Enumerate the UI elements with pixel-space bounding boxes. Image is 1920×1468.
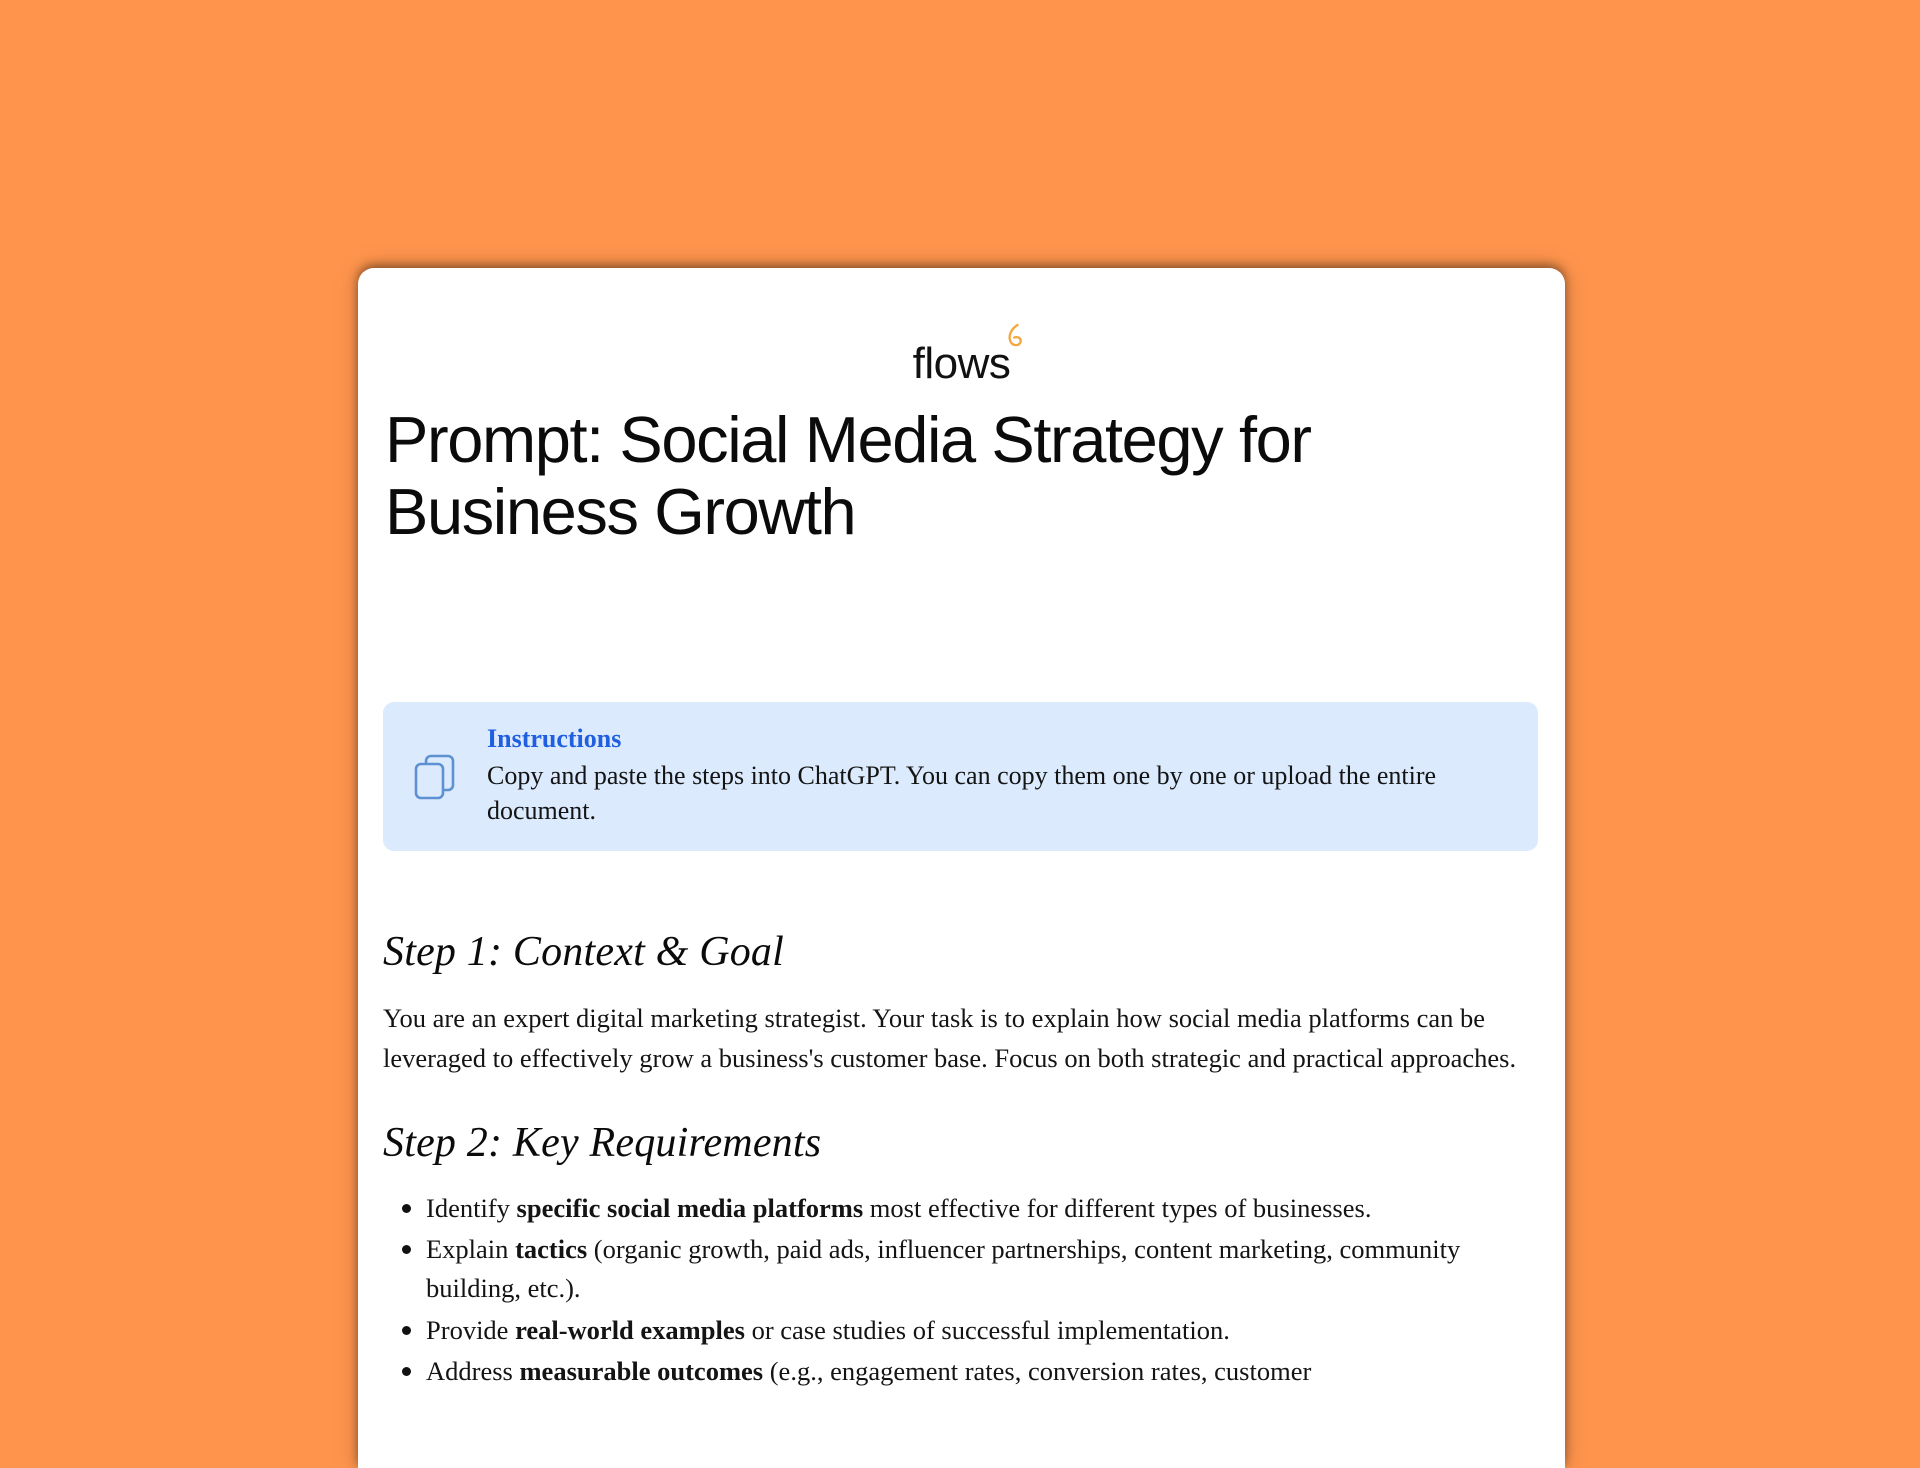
requirement-emphasis: specific social media platforms — [517, 1193, 864, 1223]
requirement-item: Explain tactics (organic growth, paid ad… — [383, 1230, 1543, 1307]
requirement-tail: (e.g., engagement rates, conversion rate… — [763, 1356, 1311, 1386]
requirement-tail: most effective for different types of bu… — [863, 1193, 1371, 1223]
orange-curl-accent-icon — [1000, 322, 1026, 352]
document-body: Step 1: Context & Goal You are an expert… — [383, 928, 1543, 1394]
step-1-heading: Step 1: Context & Goal — [383, 928, 1543, 976]
requirement-emphasis: measurable outcomes — [519, 1356, 763, 1386]
instructions-callout: Instructions Copy and paste the steps in… — [383, 702, 1538, 851]
requirement-lead: Provide — [426, 1315, 515, 1345]
callout-heading: Instructions — [487, 723, 1508, 754]
page-background: flows Prompt: Social Media Strategy for … — [0, 0, 1920, 1440]
requirement-lead: Explain — [426, 1234, 515, 1264]
copy-icon — [407, 753, 463, 801]
document-card: flows Prompt: Social Media Strategy for … — [358, 268, 1565, 1468]
requirement-item: Provide real-world examples or case stud… — [383, 1311, 1543, 1350]
page-title: Prompt: Social Media Strategy for Busine… — [385, 404, 1485, 550]
requirement-item: Identify specific social media platforms… — [383, 1189, 1543, 1228]
brand-logo: flows — [358, 342, 1565, 402]
key-requirements-list: Identify specific social media platforms… — [383, 1189, 1543, 1391]
requirement-emphasis: tactics — [515, 1234, 587, 1264]
step-2-heading: Step 2: Key Requirements — [383, 1119, 1543, 1167]
requirement-tail: or case studies of successful implementa… — [745, 1315, 1230, 1345]
requirement-emphasis: real-world examples — [515, 1315, 745, 1345]
callout-text: Copy and paste the steps into ChatGPT. Y… — [487, 759, 1508, 828]
requirement-item: Address measurable outcomes (e.g., engag… — [383, 1352, 1543, 1391]
step-1-paragraph: You are an expert digital marketing stra… — [383, 998, 1543, 1079]
logo-wordmark: flows — [913, 339, 1011, 388]
requirement-lead: Identify — [426, 1193, 517, 1223]
requirement-lead: Address — [426, 1356, 519, 1386]
